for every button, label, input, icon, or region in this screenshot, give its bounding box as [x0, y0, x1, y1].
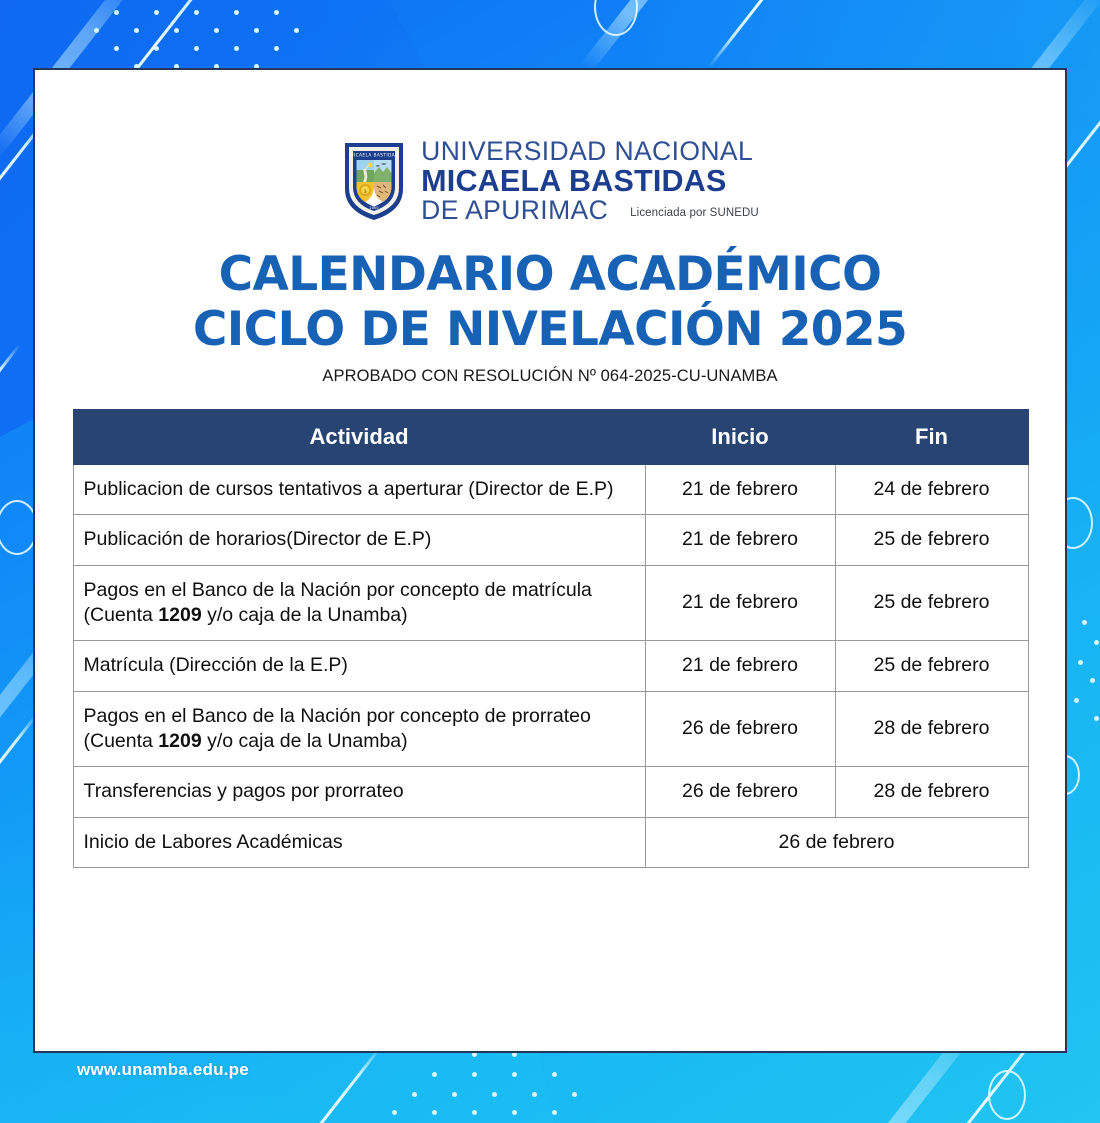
poster-canvas: $ MICAELA BASTIDAS 2000 UNIVERSIDAD NACI…	[0, 0, 1100, 1123]
content-card: $ MICAELA BASTIDAS 2000 UNIVERSIDAD NACI…	[33, 68, 1067, 1053]
cell-actividad: Pagos en el Banco de la Nación por conce…	[73, 691, 645, 767]
ring-outline	[988, 1070, 1026, 1120]
page-title-line-1: CALENDARIO ACADÉMICO	[35, 248, 1065, 303]
cell-actividad: Publicación de horarios(Director de E.P)	[73, 515, 645, 565]
cell-inicio: 21 de febrero	[645, 565, 835, 641]
actividad-text-post: y/o caja de la Unamba)	[202, 604, 408, 626]
logo-line-1: UNIVERSIDAD NACIONAL	[421, 138, 759, 165]
dot-grid-bottom	[410, 1050, 630, 1120]
title-block: CALENDARIO ACADÉMICO CICLO DE NIVELACIÓN…	[35, 248, 1065, 386]
cell-inicio: 26 de febrero	[645, 691, 835, 767]
svg-text:2000: 2000	[370, 206, 380, 210]
cell-actividad: Pagos en el Banco de la Nación por conce…	[73, 565, 645, 641]
diagonal-streak	[580, 0, 714, 73]
academic-calendar-table: Actividad Inicio Fin Publicacion de curs…	[73, 409, 1029, 868]
actividad-text-post: y/o caja de la Unamba)	[202, 730, 408, 752]
column-header-fin: Fin	[835, 410, 1028, 465]
table-row: Matrícula (Dirección de la E.P) 21 de fe…	[73, 641, 1028, 691]
cell-inicio: 26 de febrero	[645, 767, 835, 817]
table-row: Publicacion de cursos tentativos a apert…	[73, 465, 1028, 515]
account-number: 1209	[158, 604, 201, 626]
account-number: 1209	[158, 730, 201, 752]
cell-actividad: Matrícula (Dirección de la E.P)	[73, 641, 645, 691]
diagonal-streak	[281, 1046, 382, 1123]
column-header-inicio: Inicio	[645, 410, 835, 465]
column-header-actividad: Actividad	[73, 410, 645, 465]
table-row: Transferencias y pagos por prorrateo 26 …	[73, 767, 1028, 817]
table-row: Pagos en el Banco de la Nación por conce…	[73, 691, 1028, 767]
cell-actividad: Publicacion de cursos tentativos a apert…	[73, 465, 645, 515]
cell-fin: 28 de febrero	[835, 691, 1028, 767]
svg-text:MICAELA BASTIDAS: MICAELA BASTIDAS	[350, 153, 398, 159]
resolution-subtitle: APROBADO CON RESOLUCIÓN Nº 064-2025-CU-U…	[35, 367, 1065, 386]
diagonal-streak	[708, 0, 815, 68]
table-row: Inicio de Labores Académicas 26 de febre…	[73, 817, 1028, 867]
ring-outline	[594, 0, 638, 36]
cell-inicio: 21 de febrero	[645, 641, 835, 691]
table-row: Publicación de horarios(Director de E.P)…	[73, 515, 1028, 565]
sunedu-licence-note: Licenciada por SUNEDU	[630, 208, 759, 224]
cell-fin: 25 de febrero	[835, 641, 1028, 691]
university-crest-icon: $ MICAELA BASTIDAS 2000	[341, 139, 407, 223]
institution-logo: $ MICAELA BASTIDAS 2000 UNIVERSIDAD NACI…	[35, 138, 1065, 224]
svg-text:$: $	[364, 189, 368, 195]
cell-inicio: 21 de febrero	[645, 515, 835, 565]
cell-fin: 25 de febrero	[835, 565, 1028, 641]
cell-fin: 28 de febrero	[835, 767, 1028, 817]
logo-line-2: MICAELA BASTIDAS	[421, 166, 759, 197]
logo-line-3: DE APURIMAC	[421, 197, 608, 224]
cell-merged-date: 26 de febrero	[645, 817, 1028, 867]
website-url: www.unamba.edu.pe	[77, 1060, 249, 1080]
cell-inicio: 21 de febrero	[645, 465, 835, 515]
diagonal-streak	[0, 344, 21, 456]
table-row: Pagos en el Banco de la Nación por conce…	[73, 565, 1028, 641]
cell-actividad: Transferencias y pagos por prorrateo	[73, 767, 645, 817]
calendar-table-wrapper: Actividad Inicio Fin Publicacion de curs…	[73, 409, 1028, 868]
cell-fin: 24 de febrero	[835, 465, 1028, 515]
page-title-line-2: CICLO DE NIVELACIÓN 2025	[35, 303, 1065, 358]
cell-fin: 25 de febrero	[835, 515, 1028, 565]
cell-actividad: Inicio de Labores Académicas	[73, 817, 645, 867]
table-header-row: Actividad Inicio Fin	[73, 410, 1028, 465]
